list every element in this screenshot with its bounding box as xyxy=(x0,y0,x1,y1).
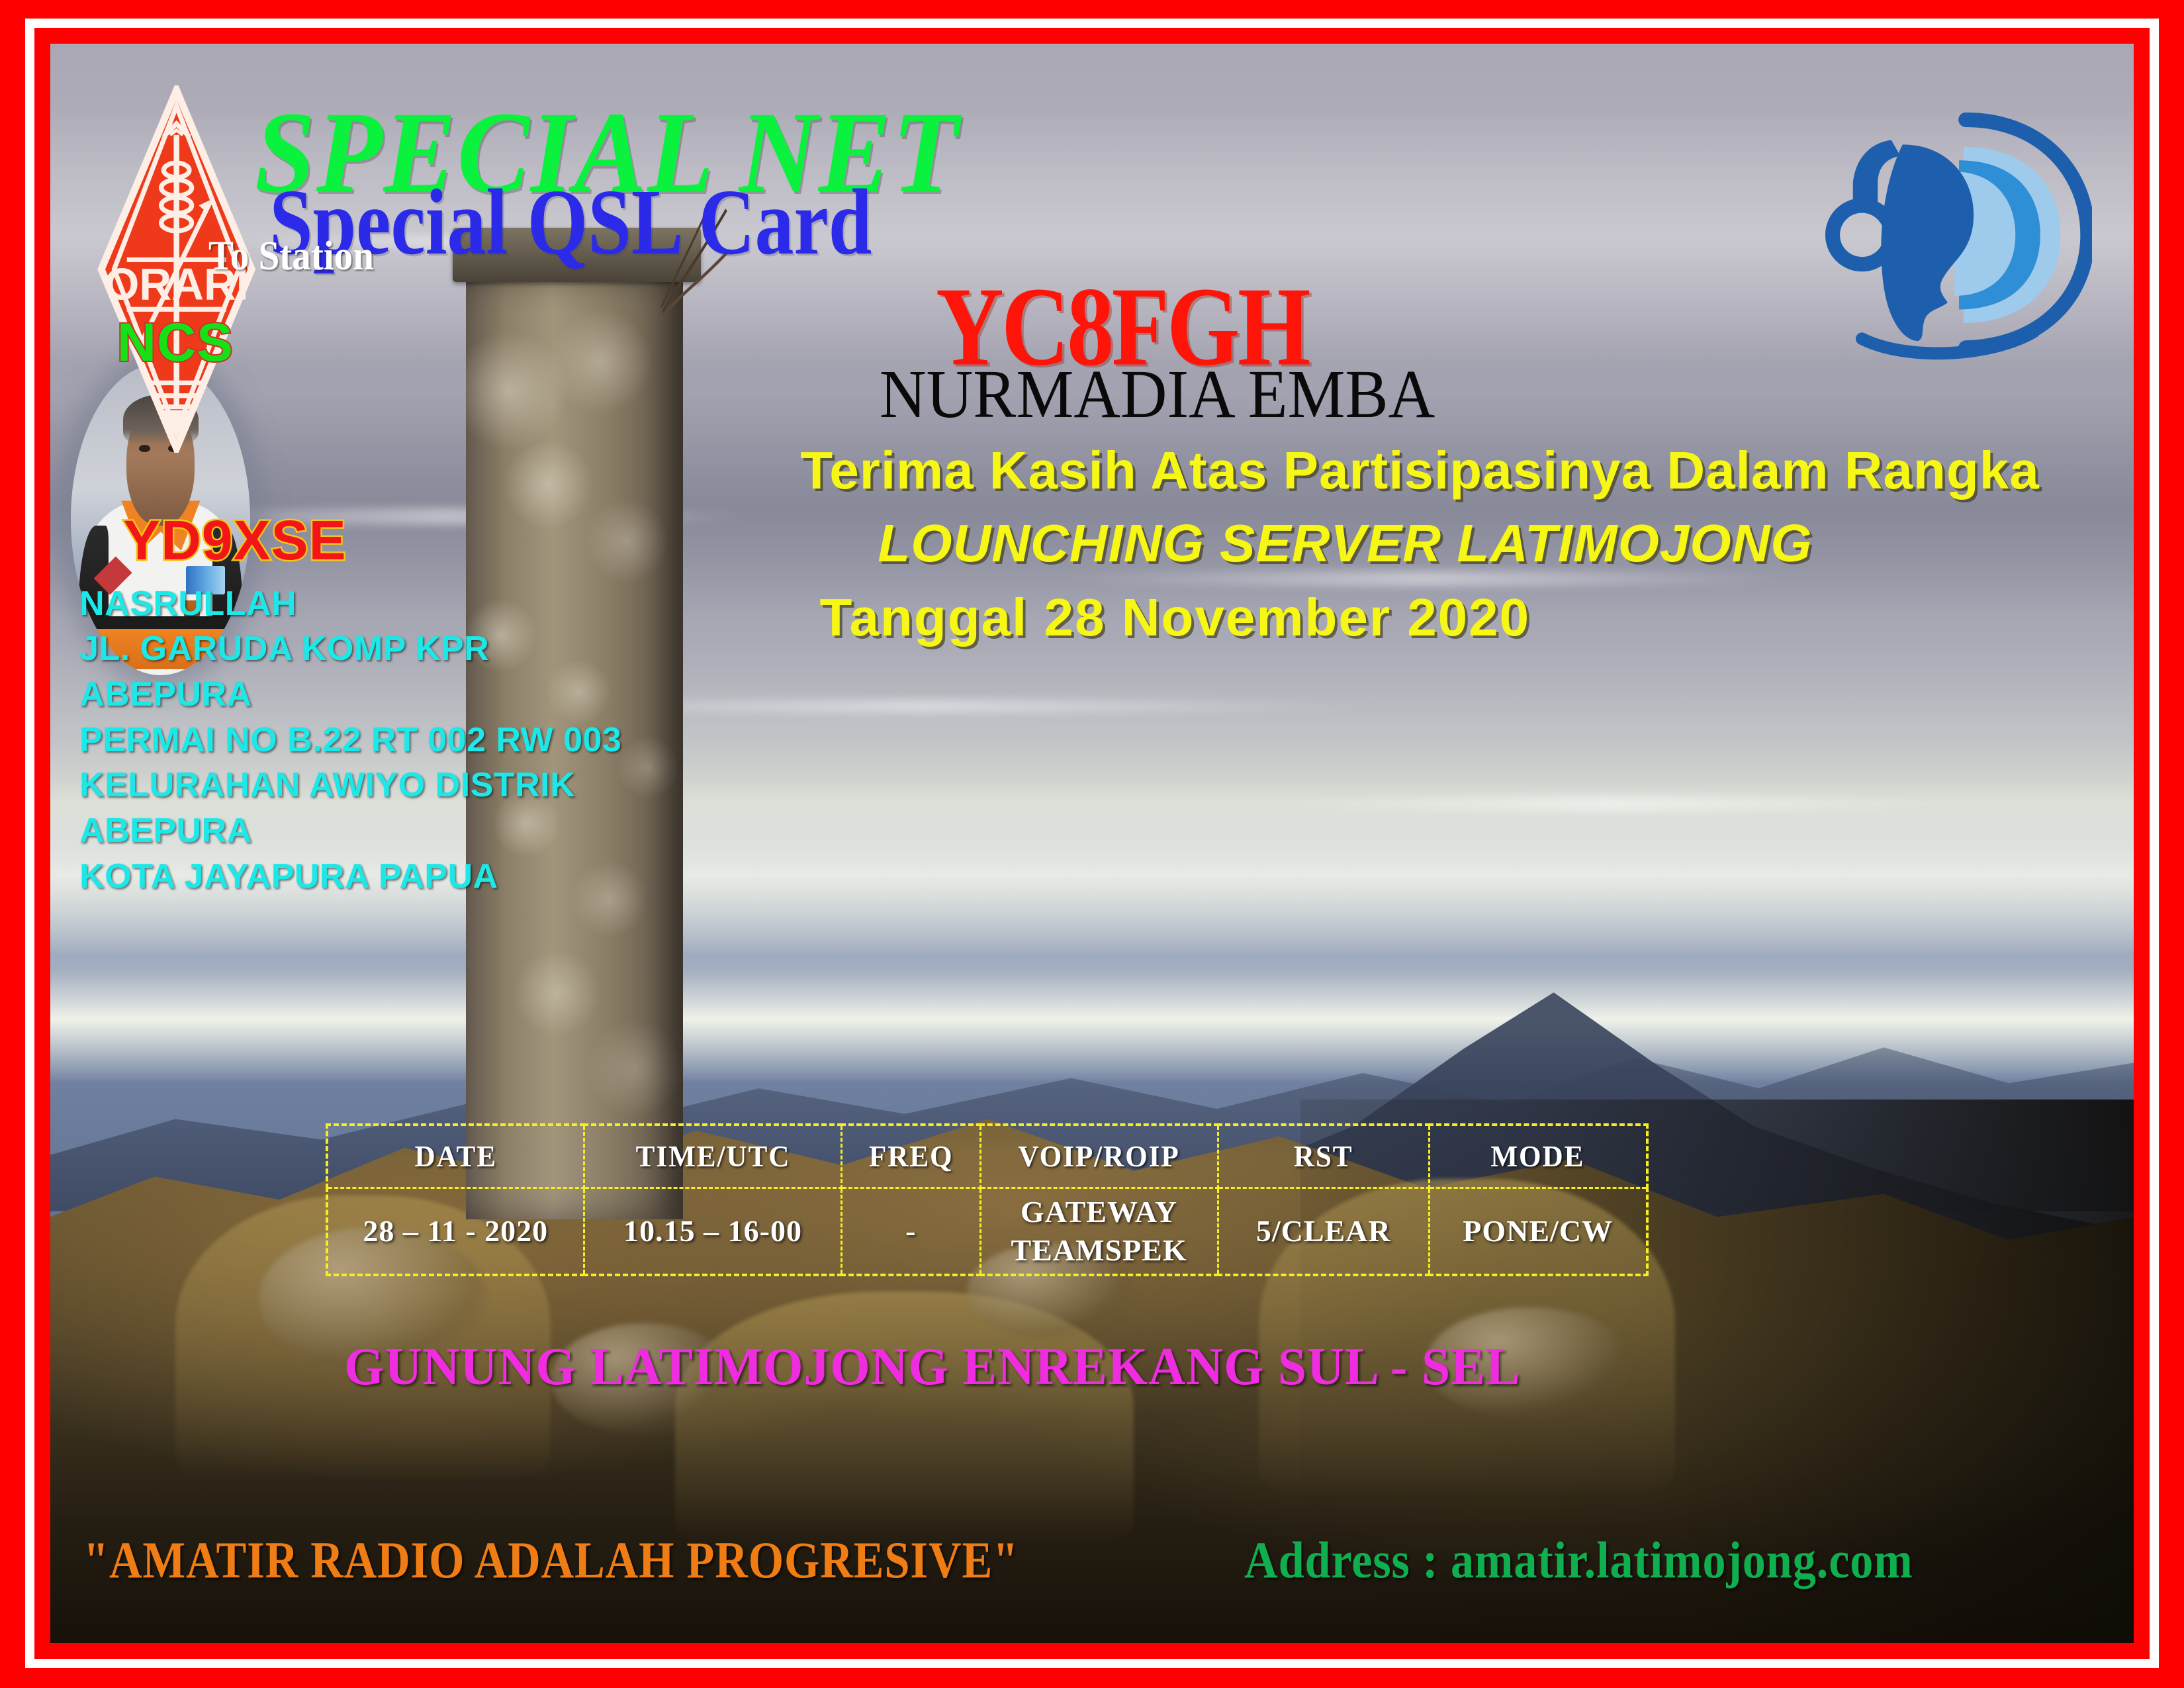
address-line: NASRULLAH xyxy=(79,581,621,627)
table-row: 28 – 11 - 2020 10.15 – 16-00 - GATEWAY T… xyxy=(327,1188,1647,1275)
table-header-mode: MODE xyxy=(1435,1125,1640,1188)
address-line: KOTA JAYAPURA PAPUA xyxy=(79,854,621,900)
card-text-layer: SPECIAL NET Special QSL Card To Station … xyxy=(50,44,2134,1643)
address-line: ABEPURA xyxy=(79,672,621,718)
footer-web-address: Address : amatir.latimojong.com xyxy=(1244,1534,1913,1586)
cell-voip: GATEWAY TEAMSPEK xyxy=(980,1188,1218,1275)
cell-voip-line-1: GATEWAY xyxy=(981,1193,1217,1231)
table-header-freq: FREQ xyxy=(846,1125,976,1188)
address-line: PERMAI NO B.22 RT 002 RW 003 xyxy=(79,718,621,763)
ncs-label: NCS xyxy=(117,316,234,370)
table-header-date: DATE xyxy=(334,1125,576,1188)
cell-time: 10.15 – 16-00 xyxy=(584,1188,842,1275)
operator-name: NURMADIA EMBA xyxy=(880,360,1435,429)
qso-log-table: DATE TIME/UTC FREQ VOIP/ROIP RST MODE 28… xyxy=(326,1123,1649,1276)
address-line: JL. GARUDA KOMP KPR xyxy=(79,626,621,672)
mailing-address-block: NASRULLAH JL. GARUDA KOMP KPR ABEPURA PE… xyxy=(79,581,621,899)
cell-mode: PONE/CW xyxy=(1429,1188,1647,1275)
thanks-line-3-date: Tanggal 28 November 2020 xyxy=(820,587,2092,648)
thanks-line-1: Terima Kasih Atas Partisipasinya Dalam R… xyxy=(800,440,2092,501)
thanks-line-2-event: LOUNCHING SERVER LATIMOJONG xyxy=(878,513,2092,574)
cell-rst: 5/CLEAR xyxy=(1218,1188,1429,1275)
address-line: ABEPURA xyxy=(79,808,621,854)
address-line: KELURAHAN AWIYO DISTRIK xyxy=(79,763,621,808)
to-station-label: To Station xyxy=(208,236,374,277)
qsl-card-outer-frame: ORARI SPECIAL NET Special QSL Card To St… xyxy=(0,0,2184,1688)
table-header-rst: RST xyxy=(1224,1125,1423,1188)
table-header-time: TIME/UTC xyxy=(592,1125,834,1188)
table-header-row: DATE TIME/UTC FREQ VOIP/ROIP RST MODE xyxy=(327,1125,1647,1188)
thanks-message-block: Terima Kasih Atas Partisipasinya Dalam R… xyxy=(800,440,2092,648)
footer-motto: "AMATIR RADIO ADALAH PROGRESIVE" xyxy=(83,1534,1019,1586)
cell-voip-line-2: TEAMSPEK xyxy=(981,1231,1217,1270)
cell-freq: - xyxy=(842,1188,980,1275)
table-header-voip: VOIP/ROIP xyxy=(987,1125,1211,1188)
qth-location-text: GUNUNG LATIMOJONG ENREKANG SUL - SEL xyxy=(344,1340,1521,1393)
ncs-callsign: YD9XSE xyxy=(123,512,347,568)
card-background-photo: ORARI SPECIAL NET Special QSL Card To St… xyxy=(50,44,2134,1643)
cell-date: 28 – 11 - 2020 xyxy=(327,1188,584,1275)
